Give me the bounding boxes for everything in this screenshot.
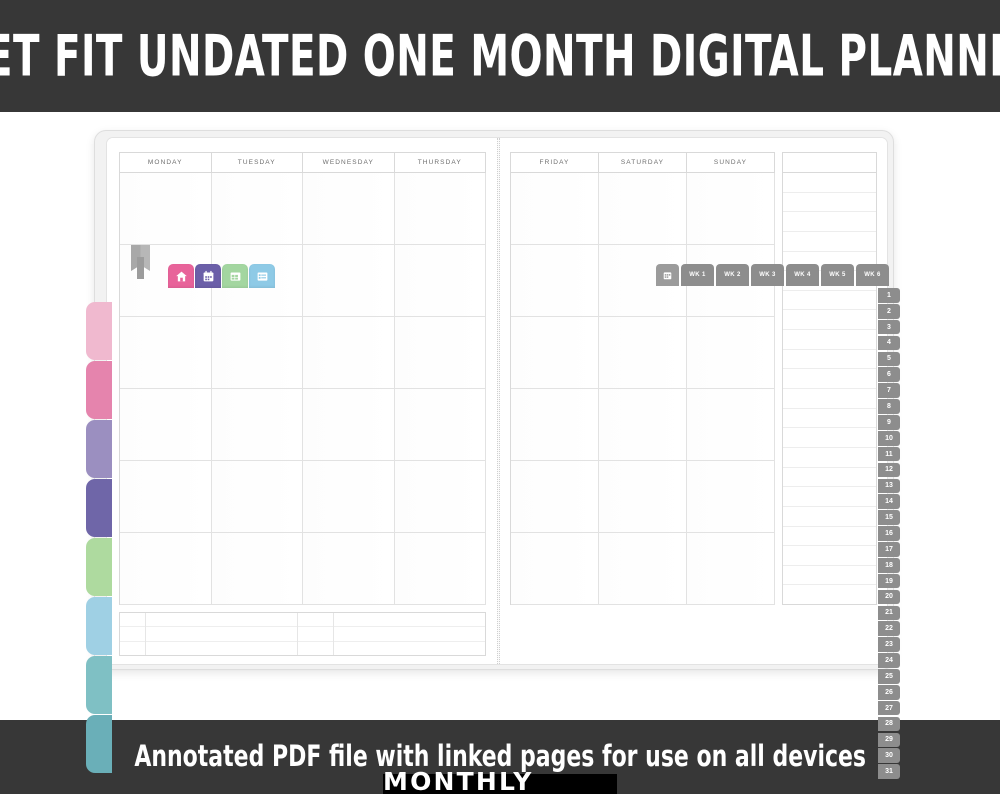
notes-line[interactable]	[783, 468, 876, 488]
day-cell-monday[interactable]	[120, 317, 212, 389]
date-tab-23[interactable]: 23	[878, 637, 900, 652]
right-page-bottom-pad	[510, 612, 877, 656]
day-cell-wednesday[interactable]	[303, 173, 395, 245]
date-tab-label: 12	[885, 466, 893, 473]
date-tab-13[interactable]: 13	[878, 479, 900, 494]
sidebar-tab-pink[interactable]	[86, 361, 112, 419]
week-tab-label: WK 2	[724, 272, 741, 278]
rule-line	[334, 627, 485, 641]
calendar-grid-right: FRIDAYSATURDAYSUNDAY	[510, 152, 775, 605]
rule-line	[120, 627, 145, 641]
bottom-strip-col-4[interactable]	[334, 613, 485, 655]
day-cell-friday[interactable]	[511, 245, 599, 317]
day-header-row-right: FRIDAYSATURDAYSUNDAY	[511, 153, 775, 173]
rule-line	[146, 613, 297, 627]
date-tab-14[interactable]: 14	[878, 494, 900, 509]
day-header-friday: FRIDAY	[511, 153, 599, 173]
day-header-label: SATURDAY	[621, 159, 664, 166]
date-tab-label: 21	[885, 609, 893, 616]
day-header-tuesday: TUESDAY	[212, 153, 304, 173]
date-tab-label: 14	[885, 498, 893, 505]
date-tab-26[interactable]: 26	[878, 685, 900, 700]
date-tab-label: 6	[887, 371, 891, 378]
bottom-notes-strip[interactable]	[119, 612, 486, 656]
date-tab-2[interactable]: 2	[878, 304, 900, 319]
day-cell-sunday[interactable]	[687, 317, 775, 389]
calendar-grid-left: MONDAYTUESDAYWEDNESDAYTHURSDAY	[119, 152, 486, 605]
notes-line[interactable]	[783, 330, 876, 350]
date-tab-29[interactable]: 29	[878, 733, 900, 748]
date-tab-label: 20	[885, 593, 893, 600]
day-header-sunday: SUNDAY	[687, 153, 775, 173]
date-tab-30[interactable]: 30	[878, 748, 900, 763]
date-tab-label: 4	[887, 339, 891, 346]
date-tab-label: 16	[885, 530, 893, 537]
week-tab-wk-6[interactable]: WK 6	[856, 264, 889, 286]
date-tab-19[interactable]: 19	[878, 574, 900, 589]
day-cell-sunday[interactable]	[687, 173, 775, 245]
day-header-label: MONDAY	[148, 159, 183, 166]
bottom-strip-col-1[interactable]	[120, 613, 146, 655]
week-row	[120, 533, 486, 605]
date-tab-label: 11	[885, 451, 892, 458]
planner-stage: WK 1WK 2WK 3WK 4WK 5WK 6 123456789101112…	[0, 112, 1000, 720]
week-tab-calendar[interactable]	[656, 264, 679, 286]
day-cell-saturday[interactable]	[599, 389, 687, 461]
date-tab-label: 10	[885, 435, 893, 442]
date-tab-label: 3	[887, 324, 891, 331]
date-tab-label: 19	[885, 578, 893, 585]
date-tab-label: 23	[885, 641, 893, 648]
day-cell-thursday[interactable]	[395, 245, 487, 317]
home-tab[interactable]	[168, 264, 194, 288]
date-tab-17[interactable]: 17	[878, 542, 900, 557]
grid-icon	[229, 270, 242, 283]
date-tab-12[interactable]: 12	[878, 463, 900, 478]
sidebar-tab-green[interactable]	[86, 538, 112, 596]
day-cell-wednesday[interactable]	[303, 389, 395, 461]
ribbon-bookmark-icon	[131, 245, 150, 279]
rule-line	[146, 642, 297, 655]
sidebar-tab-purple[interactable]	[86, 479, 112, 537]
book-spine	[497, 138, 500, 665]
rule-line	[120, 642, 145, 655]
week-tab-strip: WK 1WK 2WK 3WK 4WK 5WK 6	[656, 264, 891, 286]
notes-line[interactable]	[783, 566, 876, 586]
day-cell-wednesday[interactable]	[303, 461, 395, 533]
day-cell-thursday[interactable]	[395, 461, 487, 533]
notes-line[interactable]	[783, 487, 876, 507]
day-cell-saturday[interactable]	[599, 461, 687, 533]
notes-column[interactable]	[782, 152, 877, 605]
day-header-saturday: SATURDAY	[599, 153, 687, 173]
day-cell-sunday[interactable]	[687, 533, 775, 605]
notes-line[interactable]	[783, 212, 876, 232]
date-tab-label: 13	[885, 482, 893, 489]
date-tab-label: 15	[885, 514, 893, 521]
day-cell-thursday[interactable]	[395, 317, 487, 389]
date-tab-label: 30	[885, 752, 893, 759]
date-tab-18[interactable]: 18	[878, 558, 900, 573]
week-row	[511, 317, 775, 389]
date-tab-label: 25	[885, 673, 893, 680]
date-tab-3[interactable]: 3	[878, 320, 900, 335]
day-cell-tuesday[interactable]	[212, 389, 304, 461]
day-cell-thursday[interactable]	[395, 389, 487, 461]
day-cell-tuesday[interactable]	[212, 461, 304, 533]
rule-line	[146, 627, 297, 641]
week-row	[120, 461, 486, 533]
header-banner: GET FIT UNDATED ONE MONTH DIGITAL PLANNE…	[0, 0, 1000, 112]
day-cell-friday[interactable]	[511, 461, 599, 533]
notes-line[interactable]	[783, 585, 876, 604]
date-tab-21[interactable]: 21	[878, 606, 900, 621]
day-header-label: TUESDAY	[238, 159, 276, 166]
week-tab-label: WK 1	[689, 272, 706, 278]
notes-line[interactable]	[783, 173, 876, 193]
day-cell-friday[interactable]	[511, 533, 599, 605]
rule-line	[334, 642, 485, 655]
day-cell-friday[interactable]	[511, 317, 599, 389]
week-row	[511, 461, 775, 533]
day-cell-saturday[interactable]	[599, 533, 687, 605]
day-cell-friday[interactable]	[511, 389, 599, 461]
sidebar-tab-teal[interactable]	[86, 656, 112, 714]
week-row	[511, 173, 775, 245]
week-tab-label: WK 4	[794, 272, 811, 278]
day-header-wednesday: WEDNESDAY	[303, 153, 395, 173]
side-tab-strip	[86, 302, 112, 774]
date-tab-1[interactable]: 1	[878, 288, 900, 303]
day-cell-monday[interactable]	[120, 173, 212, 245]
day-header-thursday: THURSDAY	[395, 153, 487, 173]
day-cell-monday[interactable]	[120, 461, 212, 533]
date-tab-9[interactable]: 9	[878, 415, 900, 430]
date-tab-4[interactable]: 4	[878, 336, 900, 351]
day-header-label: SUNDAY	[714, 159, 747, 166]
list-icon	[256, 270, 269, 283]
date-tab-15[interactable]: 15	[878, 510, 900, 525]
bottom-strip-col-3[interactable]	[298, 613, 334, 655]
week-row	[511, 533, 775, 605]
day-cell-thursday[interactable]	[395, 173, 487, 245]
day-cell-saturday[interactable]	[599, 173, 687, 245]
notes-line[interactable]	[783, 291, 876, 311]
day-header-label: WEDNESDAY	[323, 159, 374, 166]
right-page: FRIDAYSATURDAYSUNDAY	[498, 138, 888, 665]
week-rows-right	[511, 173, 775, 605]
week-tab-wk-2[interactable]: WK 2	[716, 264, 749, 286]
date-tab-22[interactable]: 22	[878, 621, 900, 636]
date-tab-31[interactable]: 31	[878, 764, 900, 779]
notes-line[interactable]	[783, 527, 876, 547]
date-tab-label: 24	[885, 657, 893, 664]
date-tab-7[interactable]: 7	[878, 383, 900, 398]
notes-line[interactable]	[783, 507, 876, 527]
day-cell-wednesday[interactable]	[303, 317, 395, 389]
sidebar-tab-light-blue[interactable]	[86, 597, 112, 655]
day-cell-monday[interactable]	[120, 533, 212, 605]
date-tab-label: 31	[885, 768, 893, 775]
day-cell-wednesday[interactable]	[303, 533, 395, 605]
week-row	[120, 317, 486, 389]
date-tab-label: 22	[885, 625, 893, 632]
notes-line[interactable]	[783, 409, 876, 429]
planner-spread: MONDAYTUESDAYWEDNESDAYTHURSDAY	[106, 137, 888, 665]
date-tab-label: 28	[885, 720, 893, 727]
notes-line[interactable]	[783, 193, 876, 213]
day-header-label: THURSDAY	[418, 159, 462, 166]
rule-line	[298, 627, 333, 641]
week-row	[120, 173, 486, 245]
week-tab-label: WK 3	[759, 272, 776, 278]
notes-lines[interactable]	[783, 173, 876, 604]
rule-line	[298, 613, 333, 627]
day-cell-thursday[interactable]	[395, 533, 487, 605]
week-tab-wk-4[interactable]: WK 4	[786, 264, 819, 286]
rule-line	[120, 613, 145, 627]
day-header-label: FRIDAY	[540, 159, 570, 166]
date-tab-11[interactable]: 11	[878, 447, 900, 462]
date-tab-label: 9	[887, 419, 891, 426]
rule-line	[334, 613, 485, 627]
view-badge-label: MONTHLY VIEW	[383, 767, 617, 794]
notes-line[interactable]	[783, 350, 876, 370]
date-tab-16[interactable]: 16	[878, 526, 900, 541]
day-cell-monday[interactable]	[120, 389, 212, 461]
date-tab-27[interactable]: 27	[878, 701, 900, 716]
date-tab-label: 5	[887, 355, 891, 362]
date-tab-label: 26	[885, 689, 893, 696]
date-tab-label: 7	[887, 387, 891, 394]
day-header-row-left: MONDAYTUESDAYWEDNESDAYTHURSDAY	[120, 153, 486, 173]
date-tab-label: 1	[887, 292, 891, 299]
page-title: GET FIT UNDATED ONE MONTH DIGITAL PLANNE…	[0, 22, 1000, 89]
day-cell-sunday[interactable]	[687, 461, 775, 533]
view-badge: MONTHLY VIEW	[383, 774, 617, 794]
day-cell-sunday[interactable]	[687, 389, 775, 461]
grid-tab[interactable]	[222, 264, 248, 288]
calendar-tab[interactable]	[195, 264, 221, 288]
notes-column-header	[783, 153, 876, 173]
date-tab-5[interactable]: 5	[878, 352, 900, 367]
week-tab-label: WK 6	[864, 272, 881, 278]
week-tab-wk-3[interactable]: WK 3	[751, 264, 784, 286]
rule-line	[298, 642, 333, 655]
home-icon	[175, 270, 188, 283]
week-row	[120, 389, 486, 461]
date-tab-24[interactable]: 24	[878, 653, 900, 668]
notes-line[interactable]	[783, 369, 876, 389]
notes-line[interactable]	[783, 232, 876, 252]
sidebar-tab-light-purple[interactable]	[86, 420, 112, 478]
date-tab-25[interactable]: 25	[878, 669, 900, 684]
day-cell-saturday[interactable]	[599, 317, 687, 389]
left-page: MONDAYTUESDAYWEDNESDAYTHURSDAY	[107, 138, 498, 665]
date-tab-label: 17	[885, 546, 893, 553]
calendar-icon	[202, 270, 215, 283]
day-cell-friday[interactable]	[511, 173, 599, 245]
calendar-small-icon	[662, 270, 673, 281]
notes-line[interactable]	[783, 448, 876, 468]
notes-line[interactable]	[783, 389, 876, 409]
sidebar-tab-dark-teal[interactable]	[86, 715, 112, 773]
week-tab-wk-1[interactable]: WK 1	[681, 264, 714, 286]
bottom-strip-col-2[interactable]	[146, 613, 298, 655]
date-tab-label: 8	[887, 403, 891, 410]
day-cell-wednesday[interactable]	[303, 245, 395, 317]
date-tab-strip: 1234567891011121314151617181920212223242…	[878, 288, 900, 780]
date-tab-8[interactable]: 8	[878, 399, 900, 414]
day-header-monday: MONDAY	[120, 153, 212, 173]
week-rows-left	[120, 173, 486, 605]
date-tab-20[interactable]: 20	[878, 590, 900, 605]
day-cell-tuesday[interactable]	[212, 317, 304, 389]
date-tab-label: 18	[885, 562, 893, 569]
date-tab-label: 2	[887, 308, 891, 315]
date-tab-label: 27	[885, 705, 893, 712]
date-tab-6[interactable]: 6	[878, 367, 900, 382]
week-tab-label: WK 5	[829, 272, 846, 278]
day-cell-tuesday[interactable]	[212, 533, 304, 605]
notes-line[interactable]	[783, 310, 876, 330]
week-row	[511, 389, 775, 461]
sidebar-tab-light-pink[interactable]	[86, 302, 112, 360]
notes-line[interactable]	[783, 428, 876, 448]
date-tab-10[interactable]: 10	[878, 431, 900, 446]
section-tab-strip	[168, 264, 276, 288]
notes-line[interactable]	[783, 546, 876, 566]
day-cell-tuesday[interactable]	[212, 173, 304, 245]
list-tab[interactable]	[249, 264, 275, 288]
date-tab-28[interactable]: 28	[878, 717, 900, 732]
date-tab-label: 29	[885, 736, 893, 743]
week-tab-wk-5[interactable]: WK 5	[821, 264, 854, 286]
